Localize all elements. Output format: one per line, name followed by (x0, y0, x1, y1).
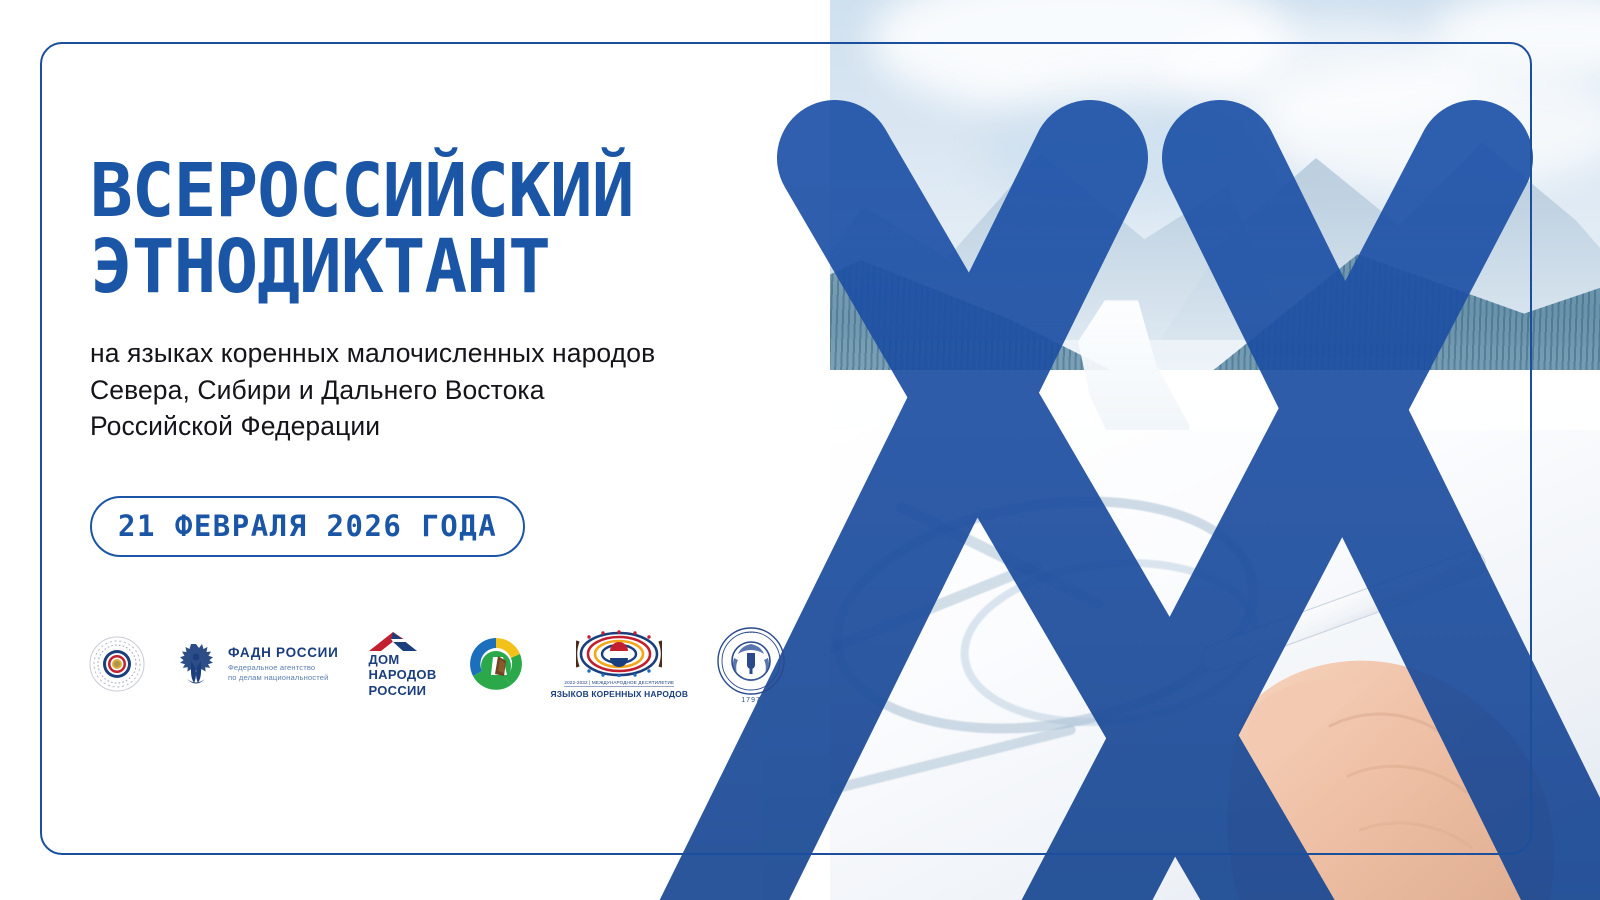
fadn-subtitle-line2: по делам национальностей (228, 673, 329, 682)
dom-line-1: ДОМ (368, 652, 436, 667)
university-seal-icon: • • • • • (714, 624, 788, 698)
tricolor-roof-icon (365, 630, 441, 652)
content-block: ВСЕРОССИЙСКИЙ ЭТНОДИКТАНТ на языках коре… (90, 160, 880, 557)
subtitle: на языках коренных малочисленных народов… (90, 335, 880, 444)
logo-federal-seal[interactable] (88, 635, 146, 693)
university-seal-year: 1797 (741, 697, 761, 704)
color-swirl-icon (467, 635, 525, 693)
subtitle-line-2: Севера, Сибири и Дальнего Востока (90, 372, 880, 408)
federal-seal-icon (88, 635, 146, 693)
logo-dom-narodov[interactable]: ДОМ НАРОДОВ РОССИИ (365, 630, 441, 697)
page-title-line2: ЭТНОДИКТАНТ (90, 236, 848, 300)
hand-with-stylus-illustration (1180, 530, 1600, 900)
fadn-text-block: ФАДН РОССИИ Федеральное агентство по дел… (228, 646, 339, 683)
stylus-pen (1198, 547, 1489, 674)
poster-root: ВСЕРОССИЙСКИЙ ЭТНОДИКТАНТ на языках коре… (0, 0, 1600, 900)
logo-indigenous-decade[interactable]: 2022-2032 | МЕЖДУНАРОДНОЕ ДЕСЯТИЛЕТИЕ ЯЗ… (551, 629, 689, 699)
dom-narodov-text: ДОМ НАРОДОВ РОССИИ (368, 652, 436, 697)
concentric-rings-icon (576, 629, 662, 677)
partner-logo-row: ФАДН РОССИИ Федеральное агентство по дел… (88, 624, 788, 704)
fadn-subtitle-line1: Федеральное агентство (228, 663, 315, 672)
decade-caption-line1: 2022-2032 | МЕЖДУНАРОДНОЕ ДЕСЯТИЛЕТИЕ (564, 680, 674, 687)
background-photo (830, 0, 1600, 900)
fadn-title: ФАДН РОССИИ (228, 646, 339, 660)
svg-text:• • • • •: • • • • • (745, 630, 758, 635)
decade-caption-line2: ЯЗЫКОВ КОРЕННЫХ НАРОДОВ (551, 689, 689, 699)
logo-herzen-university[interactable]: • • • • • 1797 (714, 624, 788, 704)
sketch-stroke (830, 724, 1077, 806)
subtitle-line-3: Российской Федерации (90, 408, 880, 444)
fadn-subtitle: Федеральное агентство по делам националь… (228, 663, 339, 683)
logo-fadn[interactable]: ФАДН РОССИИ Федеральное агентство по дел… (172, 639, 339, 689)
date-badge: 21 ФЕВРАЛЯ 2026 ГОДА (90, 496, 525, 557)
page-title-line1: ВСЕРОССИЙСКИЙ (90, 160, 848, 224)
herzen-stack: • • • • • 1797 (714, 624, 788, 704)
subtitle-line-1: на языках коренных малочисленных народов (90, 335, 880, 371)
double-headed-eagle-icon (172, 639, 220, 689)
dom-narodov-stack: ДОМ НАРОДОВ РОССИИ (365, 630, 441, 697)
hand-shape (1227, 661, 1554, 900)
decade-stack: 2022-2032 | МЕЖДУНАРОДНОЕ ДЕСЯТИЛЕТИЕ ЯЗ… (551, 629, 689, 699)
logo-swirl-emblem[interactable] (467, 635, 525, 693)
dom-line-3: РОССИИ (368, 683, 436, 698)
dom-line-2: НАРОДОВ (368, 667, 436, 682)
